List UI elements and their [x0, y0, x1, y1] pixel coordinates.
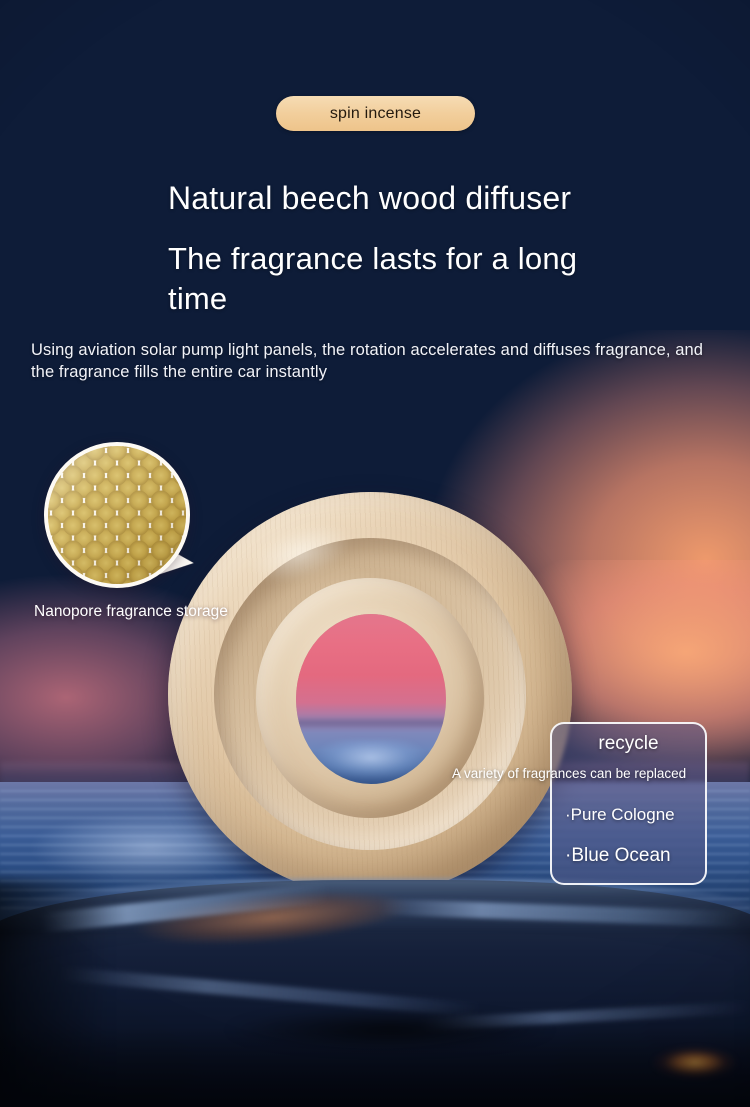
- subcopy-paragraph: Using aviation solar pump light panels, …: [31, 339, 721, 383]
- product-banner: spin incense Natural beech wood diffuser…: [0, 0, 750, 1107]
- fragrance-option-pure-cologne: ·Pure Cologne: [565, 805, 675, 825]
- badge-label: spin incense: [330, 105, 421, 123]
- ring-center-hole: [296, 614, 446, 784]
- hole-horizon-line: [296, 719, 446, 727]
- recycle-title: recycle: [550, 733, 707, 755]
- bottom-fade-overlay: [0, 1027, 750, 1107]
- headline-line-1: Natural beech wood diffuser: [168, 180, 571, 217]
- hole-water-foam: [314, 740, 428, 784]
- nanopore-label: Nanopore fragrance storage: [34, 603, 228, 621]
- honeycomb-sheen: [48, 446, 186, 584]
- wooden-ring-product: [168, 492, 572, 896]
- headline-line-2: The fragrance lasts for a long time: [168, 239, 598, 319]
- recycle-subtitle: A variety of fragrances can be replaced: [452, 766, 710, 781]
- fragrance-option-blue-ocean: ·Blue Ocean: [565, 845, 671, 867]
- ring-outer-body: [168, 492, 572, 896]
- spin-incense-badge: spin incense: [276, 96, 475, 131]
- ring-inner-body: [256, 578, 484, 818]
